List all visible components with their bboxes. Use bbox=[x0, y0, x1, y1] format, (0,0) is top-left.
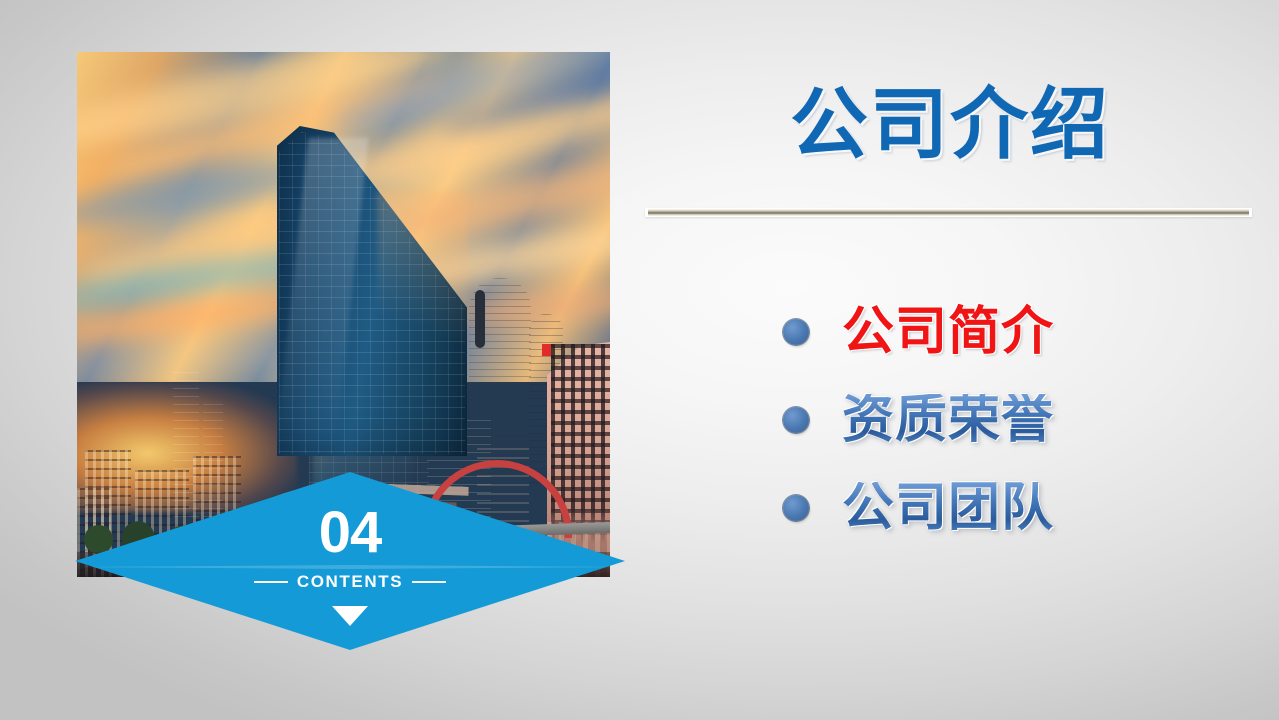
bullet-dot-icon bbox=[783, 495, 809, 521]
slide-canvas: 04 CONTENTS 公司介绍 公司简介 资质荣誉 公司团队 bbox=[0, 0, 1279, 720]
tower-notch bbox=[475, 290, 485, 348]
rule-left bbox=[254, 581, 288, 583]
agenda-list: 公司简介 资质荣誉 公司团队 bbox=[783, 288, 1253, 552]
list-item-label: 公司简介 bbox=[842, 306, 1054, 358]
list-item[interactable]: 公司团队 bbox=[783, 464, 1253, 552]
contents-label-row: CONTENTS bbox=[254, 572, 446, 592]
rule-right bbox=[412, 581, 446, 583]
list-item-label: 公司团队 bbox=[842, 482, 1054, 534]
title-divider bbox=[645, 208, 1252, 217]
section-number: 04 bbox=[319, 504, 382, 562]
contents-label: CONTENTS bbox=[297, 572, 403, 592]
caret-down-icon bbox=[332, 606, 368, 626]
list-item[interactable]: 资质荣誉 bbox=[783, 376, 1253, 464]
list-item-label: 资质荣誉 bbox=[842, 394, 1054, 446]
bullet-dot-icon bbox=[783, 407, 809, 433]
page-title: 公司介绍 bbox=[645, 84, 1255, 166]
red-sign bbox=[542, 344, 551, 356]
contents-diamond-content: 04 CONTENTS bbox=[75, 472, 625, 650]
list-item[interactable]: 公司简介 bbox=[783, 288, 1253, 376]
bullet-dot-icon bbox=[783, 319, 809, 345]
skyscraper-warm-reflection bbox=[377, 192, 467, 422]
